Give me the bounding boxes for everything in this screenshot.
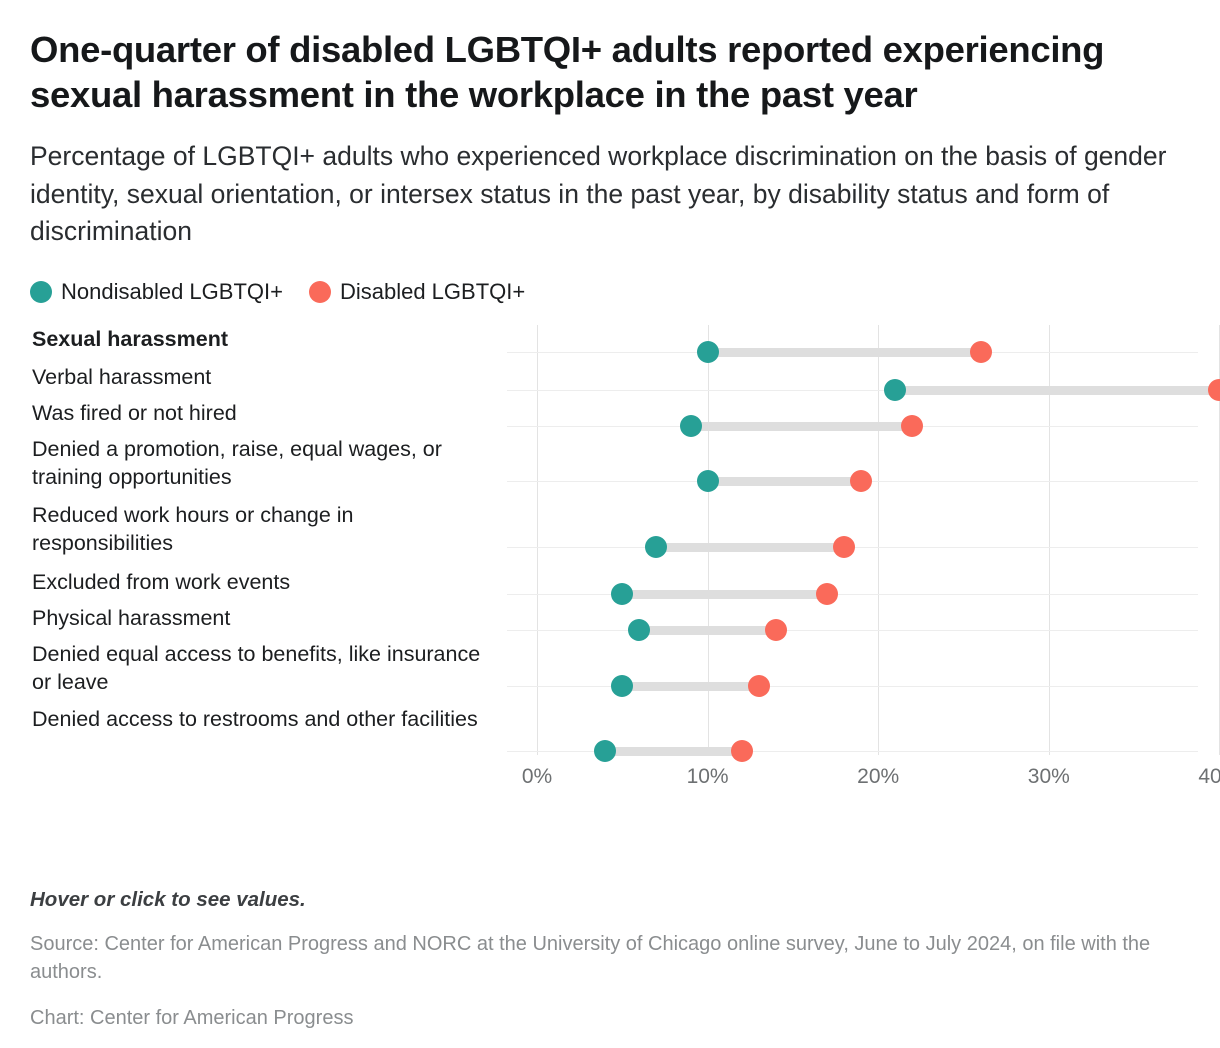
data-point-nondisabled[interactable] xyxy=(884,379,906,401)
data-point-disabled[interactable] xyxy=(765,619,787,641)
data-point-nondisabled[interactable] xyxy=(645,536,667,558)
legend-label: Disabled LGBTQI+ xyxy=(340,279,525,305)
connector-bar xyxy=(895,386,1219,395)
category-label: Denied a promotion, raise, equal wages, … xyxy=(32,435,500,492)
legend-item-nondisabled[interactable]: Nondisabled LGBTQI+ xyxy=(30,279,283,305)
data-point-nondisabled[interactable] xyxy=(680,415,702,437)
circle-swatch-icon xyxy=(30,281,52,303)
category-label: Verbal harassment xyxy=(32,363,500,391)
dumbbell-row[interactable] xyxy=(507,379,1190,401)
data-point-nondisabled[interactable] xyxy=(697,341,719,363)
connector-bar xyxy=(622,590,827,599)
x-tick-label: 40% xyxy=(1198,765,1220,789)
dumbbell-row[interactable] xyxy=(507,536,1190,558)
legend-item-disabled[interactable]: Disabled LGBTQI+ xyxy=(309,279,525,305)
chart-footer: Hover or click to see values. Source: Ce… xyxy=(30,888,1190,1030)
data-point-disabled[interactable] xyxy=(833,536,855,558)
dumbbell-row[interactable] xyxy=(507,415,1190,437)
x-tick-label: 20% xyxy=(857,765,899,789)
data-point-disabled[interactable] xyxy=(901,415,923,437)
connector-bar xyxy=(656,543,844,552)
data-point-disabled[interactable] xyxy=(970,341,992,363)
x-tick-label: 10% xyxy=(687,765,729,789)
category-label: Excluded from work events xyxy=(32,568,500,596)
category-labels: Sexual harassmentVerbal harassmentWas fi… xyxy=(30,325,500,755)
data-point-disabled[interactable] xyxy=(816,583,838,605)
connector-bar xyxy=(708,477,862,486)
x-axis: 0%10%20%30%40% xyxy=(507,755,1207,797)
data-point-disabled[interactable] xyxy=(1208,379,1220,401)
dumbbell-row[interactable] xyxy=(507,470,1190,492)
data-point-disabled[interactable] xyxy=(748,675,770,697)
category-label: Was fired or not hired xyxy=(32,399,500,427)
x-tick-label: 0% xyxy=(522,765,552,789)
chart-plot: Sexual harassmentVerbal harassmentWas fi… xyxy=(30,325,1190,755)
data-point-nondisabled[interactable] xyxy=(697,470,719,492)
dumbbell-row[interactable] xyxy=(507,675,1190,697)
data-point-disabled[interactable] xyxy=(850,470,872,492)
category-label: Reduced work hours or change in responsi… xyxy=(32,501,500,558)
category-label: Denied access to restrooms and other fac… xyxy=(32,705,500,733)
dumbbell-row[interactable] xyxy=(507,619,1190,641)
category-label: Sexual harassment xyxy=(32,325,500,353)
chart-credit: Chart: Center for American Progress xyxy=(30,1007,1190,1030)
data-point-nondisabled[interactable] xyxy=(628,619,650,641)
data-point-nondisabled[interactable] xyxy=(611,675,633,697)
source-note: Source: Center for American Progress and… xyxy=(30,930,1180,987)
connector-bar xyxy=(622,682,758,691)
connector-bar xyxy=(639,626,775,635)
category-label: Denied equal access to benefits, like in… xyxy=(32,640,500,697)
chart-page: One-quarter of disabled LGBTQI+ adults r… xyxy=(0,0,1220,1048)
legend-label: Nondisabled LGBTQI+ xyxy=(61,279,283,305)
circle-swatch-icon xyxy=(309,281,331,303)
page-title: One-quarter of disabled LGBTQI+ adults r… xyxy=(30,28,1160,117)
data-point-nondisabled[interactable] xyxy=(611,583,633,605)
hover-hint: Hover or click to see values. xyxy=(30,888,1190,912)
x-tick-label: 30% xyxy=(1028,765,1070,789)
chart-subtitle: Percentage of LGBTQI+ adults who experie… xyxy=(30,138,1180,251)
dumbbell-row[interactable] xyxy=(507,583,1190,605)
connector-bar xyxy=(708,348,981,357)
dumbbell-row[interactable] xyxy=(507,341,1190,363)
chart-legend: Nondisabled LGBTQI+ Disabled LGBTQI+ xyxy=(30,277,1190,307)
category-label: Physical harassment xyxy=(32,604,500,632)
plot-area xyxy=(507,325,1190,755)
connector-bar xyxy=(691,422,913,431)
